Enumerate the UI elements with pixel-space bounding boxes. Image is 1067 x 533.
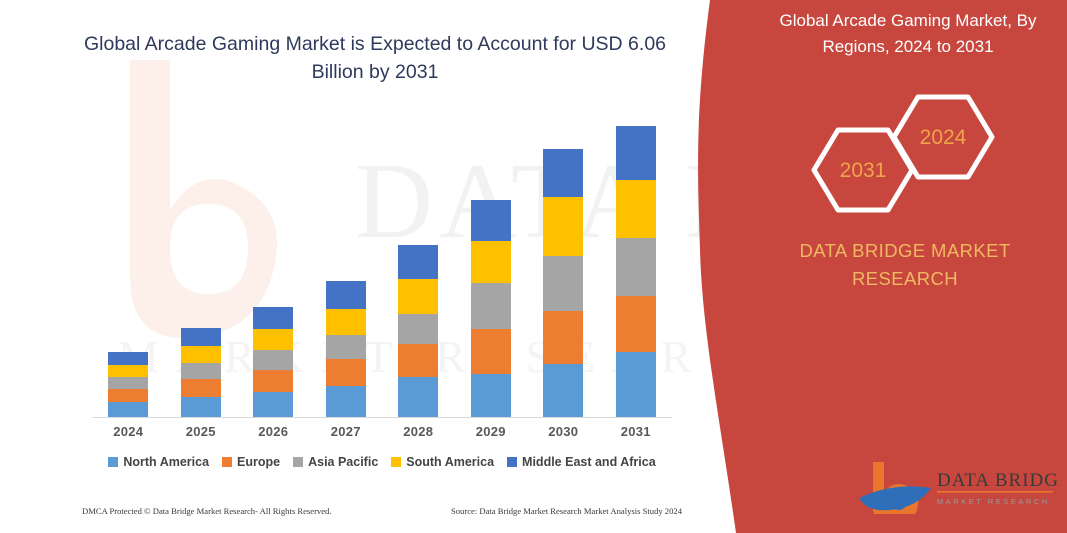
legend-item[interactable]: Middle East and Africa: [507, 455, 656, 469]
brand-line-1: DATA BRIDGE MARKET: [799, 240, 1010, 261]
bar-segment: [471, 374, 511, 417]
bar-column: [310, 120, 382, 417]
bar-segment: [326, 281, 366, 309]
legend-label: Europe: [237, 455, 280, 469]
bar-segment: [326, 309, 366, 335]
bar-column: [92, 120, 164, 417]
hexagon-2031-label: 2031: [840, 159, 887, 182]
bar-segment: [253, 329, 293, 350]
x-axis-labels: 20242025202620272028202920302031: [92, 424, 672, 439]
footer-copyright: DMCA Protected © Data Bridge Market Rese…: [82, 506, 332, 516]
bar-column: [382, 120, 454, 417]
bar-segment: [616, 238, 656, 296]
bar-segment: [616, 352, 656, 417]
x-axis-label: 2030: [527, 424, 599, 439]
x-axis-label: 2025: [165, 424, 237, 439]
logo-tagline: MARKET RESEARCH: [937, 497, 1050, 506]
bar-segment: [181, 397, 221, 417]
hexagon-2024-label: 2024: [920, 126, 967, 149]
legend-label: Middle East and Africa: [522, 455, 656, 469]
legend-swatch-icon: [222, 457, 232, 467]
legend-swatch-icon: [108, 457, 118, 467]
logo-wordmark: DATA BRIDGE: [937, 470, 1060, 491]
brand-line-2: RESEARCH: [852, 268, 958, 289]
legend-swatch-icon: [293, 457, 303, 467]
stacked-bar: [543, 149, 583, 417]
data-bridge-logo: DATA BRIDGE MARKET RESEARCH: [855, 458, 1060, 514]
bar-column: [600, 120, 672, 417]
footer-source: Source: Data Bridge Market Research Mark…: [451, 506, 682, 516]
bar-segment: [398, 314, 438, 344]
brand-name: DATA BRIDGE MARKET RESEARCH: [755, 237, 1055, 293]
bar-segment: [108, 402, 148, 417]
bar-column: [165, 120, 237, 417]
bar-segment: [108, 352, 148, 365]
red-panel-content: Global Arcade Gaming Market, By Regions,…: [700, 0, 1067, 533]
bar-segment: [253, 350, 293, 370]
stacked-bar: [471, 200, 511, 417]
bar-segment: [543, 364, 583, 417]
stacked-bar: [326, 281, 366, 417]
legend-label: Asia Pacific: [308, 455, 378, 469]
x-axis-label: 2026: [237, 424, 309, 439]
chart-legend: North AmericaEuropeAsia PacificSouth Ame…: [92, 455, 672, 469]
legend-swatch-icon: [391, 457, 401, 467]
bar-segment: [543, 256, 583, 311]
legend-label: North America: [123, 455, 209, 469]
bar-segment: [398, 279, 438, 314]
bar-segment: [326, 335, 366, 359]
logo-rule: [937, 491, 1053, 493]
bar-segment: [398, 344, 438, 377]
x-axis-label: 2024: [92, 424, 164, 439]
x-axis-label: 2031: [600, 424, 672, 439]
bar-segment: [471, 329, 511, 374]
legend-item[interactable]: Europe: [222, 455, 280, 469]
bar-segment: [398, 245, 438, 279]
legend-item[interactable]: North America: [108, 455, 209, 469]
x-axis-label: 2028: [382, 424, 454, 439]
x-axis-line: [92, 417, 672, 418]
stacked-bar-chart: [92, 120, 672, 417]
legend-swatch-icon: [507, 457, 517, 467]
stacked-bar: [108, 352, 148, 417]
bar-segment: [108, 365, 148, 377]
stacked-bar: [253, 307, 293, 417]
bar-segment: [616, 180, 656, 238]
bar-segment: [616, 296, 656, 352]
bar-segment: [181, 379, 221, 397]
bar-segment: [181, 328, 221, 346]
bar-segment: [326, 386, 366, 417]
bar-column: [237, 120, 309, 417]
bar-column: [455, 120, 527, 417]
bar-segment: [253, 370, 293, 392]
logo-dot: [891, 494, 907, 510]
bar-segment: [471, 200, 511, 241]
bar-segment: [398, 377, 438, 417]
bar-segment: [543, 149, 583, 197]
panel-title: Global Arcade Gaming Market, By Regions,…: [758, 8, 1058, 59]
page-title: Global Arcade Gaming Market is Expected …: [80, 30, 670, 87]
stacked-bar: [398, 245, 438, 417]
legend-item[interactable]: South America: [391, 455, 494, 469]
hexagon-badges: 2024 2031: [800, 85, 1020, 215]
bar-segment: [108, 377, 148, 389]
bar-segment: [471, 283, 511, 329]
legend-item[interactable]: Asia Pacific: [293, 455, 378, 469]
bar-segment: [543, 197, 583, 256]
stacked-bar: [616, 126, 656, 417]
bar-segment: [326, 359, 366, 386]
bar-column: [527, 120, 599, 417]
bar-segment: [616, 126, 656, 180]
bar-segment: [543, 311, 583, 364]
bar-segment: [253, 307, 293, 329]
x-axis-label: 2027: [310, 424, 382, 439]
legend-label: South America: [406, 455, 494, 469]
stacked-bar: [181, 328, 221, 417]
infographic-canvas: DATA BRIDGE MARKET RESEARCH Global Arcad…: [0, 0, 1067, 533]
bar-segment: [108, 389, 148, 402]
x-axis-label: 2029: [455, 424, 527, 439]
bar-segment: [471, 241, 511, 283]
bar-segment: [181, 346, 221, 363]
bar-segment: [181, 363, 221, 379]
bar-segment: [253, 392, 293, 417]
footer: DMCA Protected © Data Bridge Market Rese…: [82, 506, 682, 516]
